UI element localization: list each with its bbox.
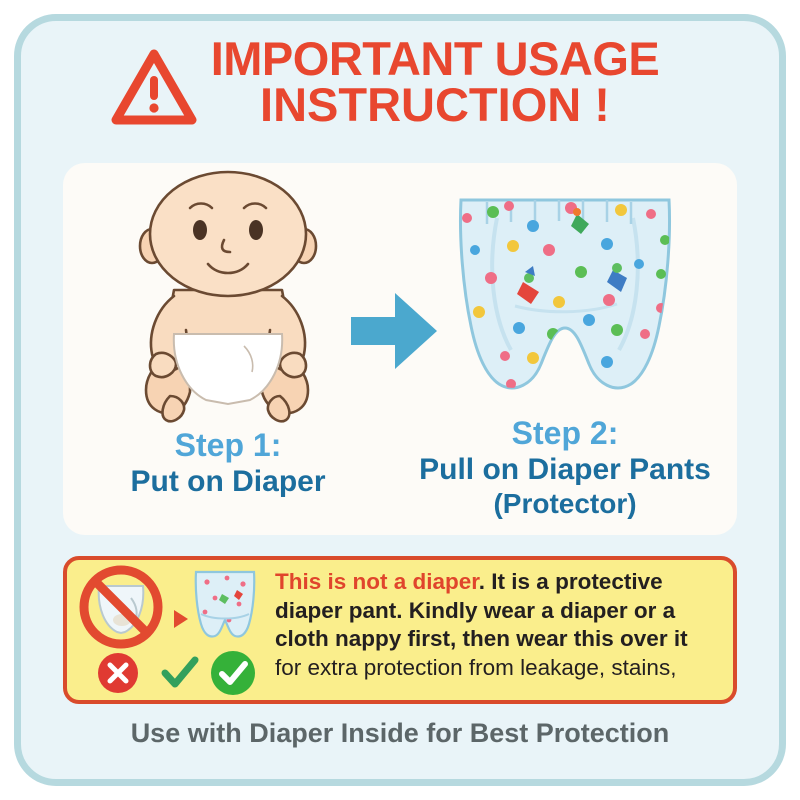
red-x-circle-icon	[97, 652, 139, 699]
warning-icon-group	[67, 560, 267, 700]
warning-text-block: This is not a diaper. It is a protective…	[267, 560, 733, 700]
warning-line-1-rest: . It is a protective	[479, 569, 663, 594]
step-2-caption: Step 2: Pull on Diaper Pants (Protector)	[393, 415, 737, 520]
title-line-2: INSTRUCTION !	[211, 82, 660, 128]
warning-triangle-icon	[111, 48, 197, 131]
diaper-pant-icon	[189, 564, 261, 645]
green-check-circle-icon	[210, 650, 256, 701]
step-1-number: Step 1:	[63, 427, 393, 465]
step-2-number: Step 2:	[393, 415, 737, 453]
steps-card: Step 1: Put on Diaper	[63, 163, 737, 535]
instruction-poster: IMPORTANT USAGE INSTRUCTION !	[0, 0, 800, 800]
step-2-subtitle: (Protector)	[393, 488, 737, 520]
page-title: IMPORTANT USAGE INSTRUCTION !	[211, 32, 660, 128]
warning-line-3: cloth nappy first, then wear this over i…	[275, 625, 723, 654]
right-arrow-icon	[337, 281, 447, 381]
no-diaper-prohibition-icon	[75, 562, 167, 657]
title-line-1: IMPORTANT USAGE	[211, 36, 660, 82]
header: IMPORTANT USAGE INSTRUCTION !	[40, 32, 730, 150]
footer-text: Use with Diaper Inside for Best Protecti…	[40, 718, 760, 749]
red-triangle-arrow-icon	[172, 608, 190, 635]
warning-line-2: diaper pant. Kindly wear a diaper or a	[275, 597, 723, 626]
green-check-icon	[159, 652, 201, 699]
warning-line-4: for extra protection from leakage, stain…	[275, 654, 723, 683]
step-1-description: Put on Diaper	[63, 465, 393, 500]
warning-line-1: This is not a diaper. It is a protective	[275, 568, 723, 597]
step-2-description: Pull on Diaper Pants	[393, 453, 737, 488]
step-1-caption: Step 1: Put on Diaper	[63, 427, 393, 500]
warning-emphasis: This is not a diaper	[275, 569, 479, 594]
warning-panel: This is not a diaper. It is a protective…	[63, 556, 737, 704]
